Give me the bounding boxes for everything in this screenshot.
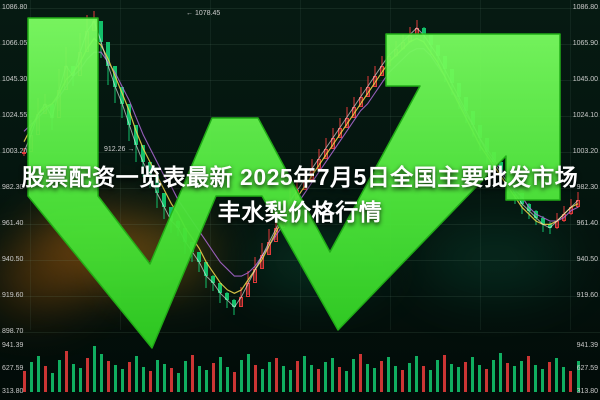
screenshot-root: 1086.801066.051045.301024.551003.20982.3…	[0, 0, 600, 400]
page-title: 股票配资一览表最新 2025年7月5日全国主要批发市场丰水梨价格行情	[18, 160, 582, 230]
